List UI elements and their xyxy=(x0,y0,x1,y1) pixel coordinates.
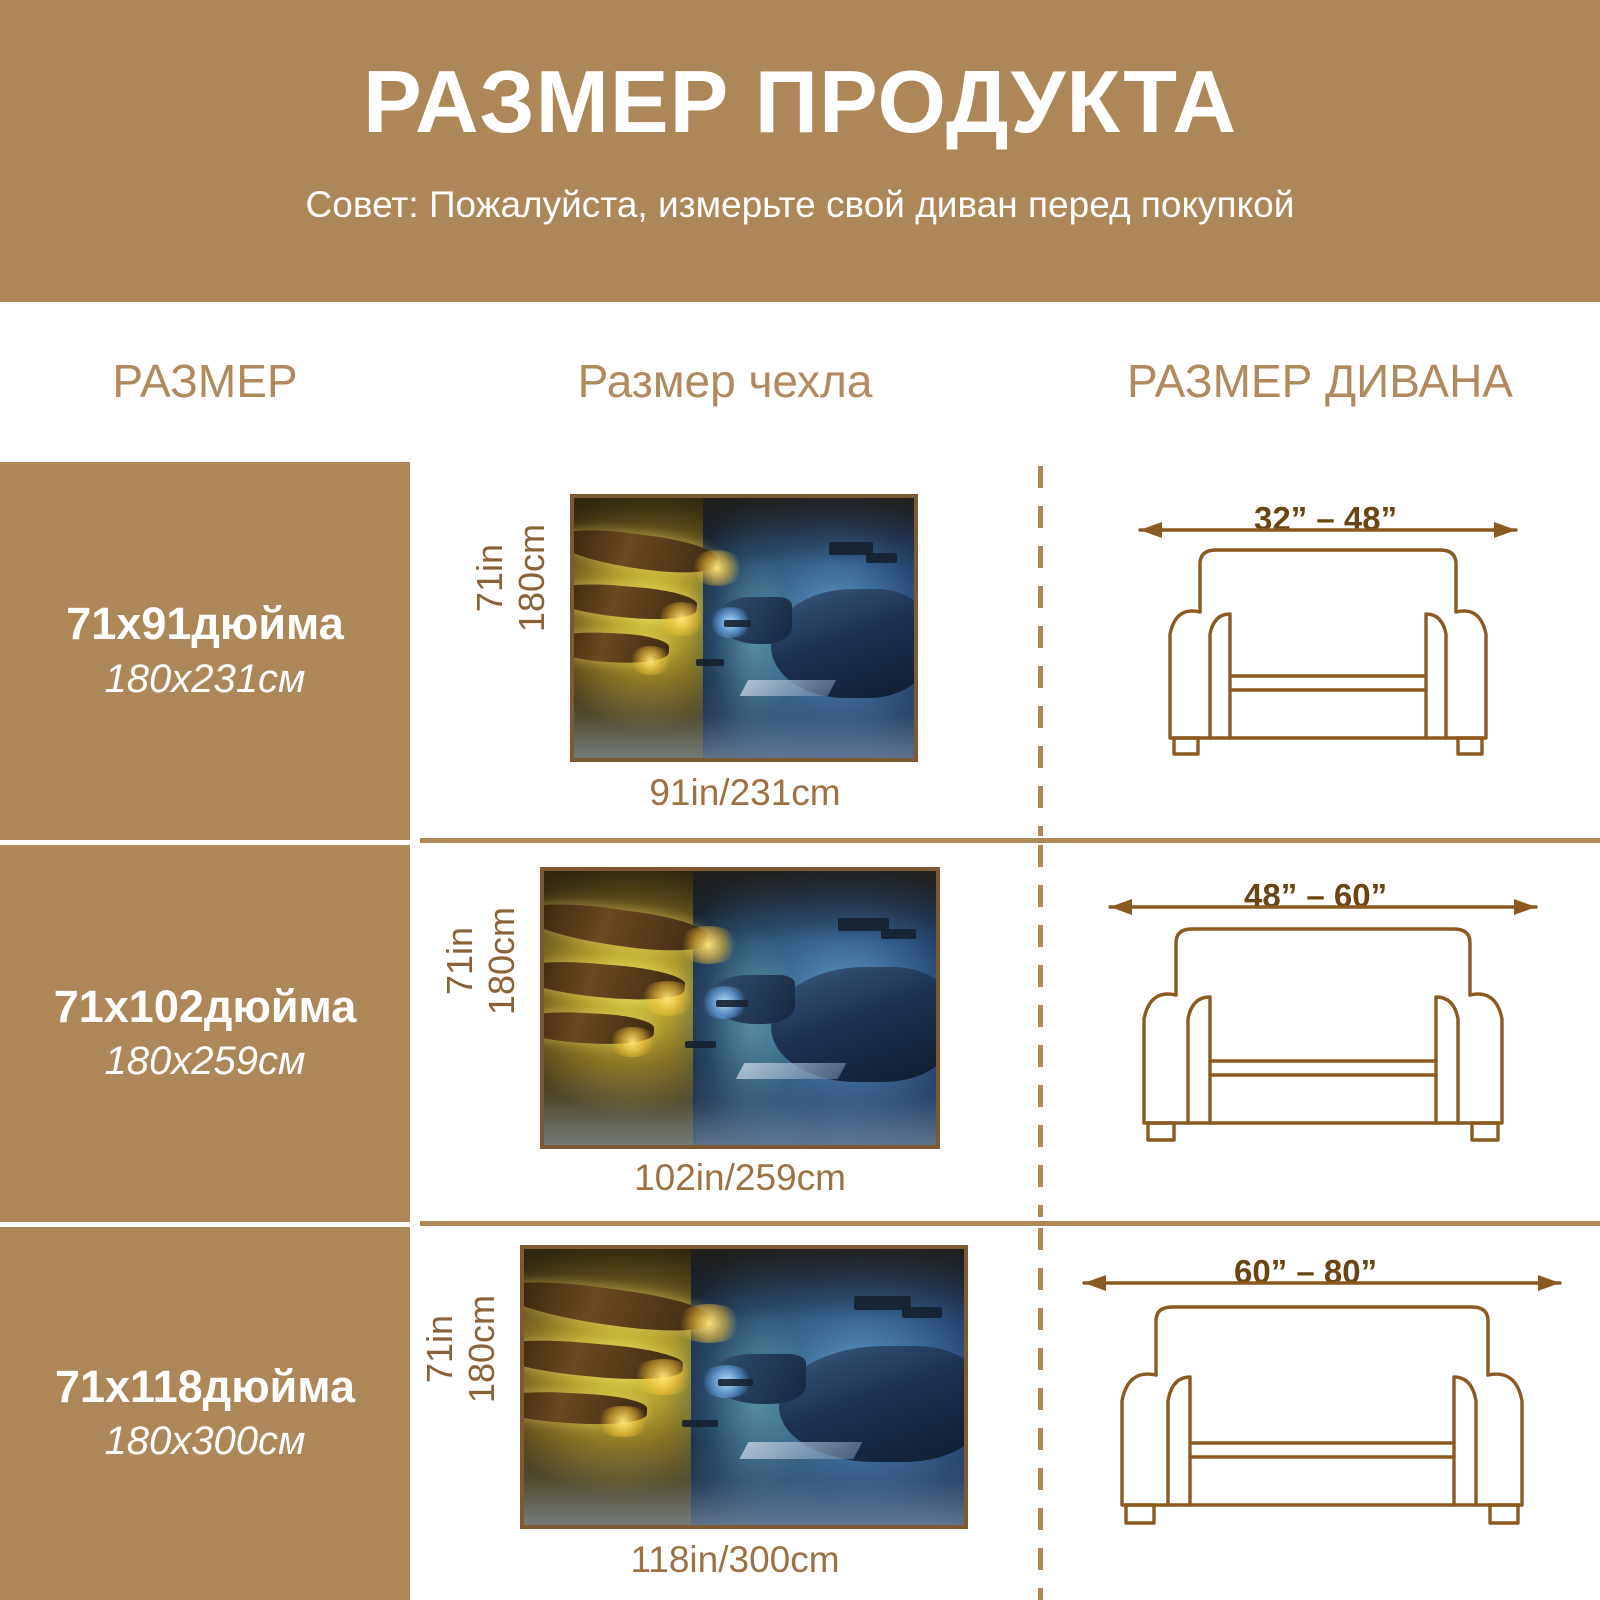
cover-width-label: 102in/259cm xyxy=(510,1157,970,1199)
cover-width-label: 91in/231cm xyxy=(520,772,970,814)
size-cm-label: 180x300см xyxy=(105,1417,306,1465)
cover-height-labels: 71in 180cm xyxy=(472,524,550,632)
cover-width-label: 118in/300cm xyxy=(500,1539,970,1581)
row-divider xyxy=(420,838,1600,843)
sofa-cell: 48” – 60” xyxy=(1040,845,1600,1222)
sofa-illustration xyxy=(1128,502,1528,792)
size-inches-label: 71x91дюйма xyxy=(66,599,344,649)
column-header-size: РАЗМЕР xyxy=(0,354,410,408)
sofa-illustration xyxy=(1098,879,1548,1179)
size-cell: 71x102дюйма 180x259см xyxy=(0,845,410,1222)
cover-cell: 71in 180cm xyxy=(410,1227,1040,1600)
cover-cell: 71in 180cm xyxy=(410,845,1040,1222)
cover-height-labels: 71in 180cm xyxy=(422,1295,500,1403)
cover-height-cm: 180cm xyxy=(514,524,550,632)
table-row: 71x118дюйма 180x300см 71in 180cm xyxy=(0,1227,1600,1600)
column-dashed-divider xyxy=(1038,1228,1043,1600)
cover-height-inches: 71in xyxy=(472,544,508,612)
size-inches-label: 71x102дюйма xyxy=(54,982,357,1032)
product-artwork xyxy=(540,867,940,1149)
cover-height-inches: 71in xyxy=(442,927,478,995)
product-artwork xyxy=(570,494,918,762)
column-header-cover: Размер чехла xyxy=(410,354,1040,408)
cover-height-labels: 71in 180cm xyxy=(442,907,520,1015)
cover-cell: 71in 180cm xyxy=(410,462,1040,840)
column-header-row: РАЗМЕР Размер чехла РАЗМЕР ДИВАНА xyxy=(0,302,1600,462)
cover-height-inches: 71in xyxy=(422,1315,458,1383)
page-title: РАЗМЕР ПРОДУКТА xyxy=(363,58,1237,146)
table-row: 71x102дюйма 180x259см 71in 180cm xyxy=(0,845,1600,1222)
cover-height-cm: 180cm xyxy=(484,907,520,1015)
page-header: РАЗМЕР ПРОДУКТА Совет: Пожалуйста, измер… xyxy=(0,0,1600,302)
size-inches-label: 71x118дюйма xyxy=(55,1362,355,1412)
column-header-sofa: РАЗМЕР ДИВАНА xyxy=(1040,354,1600,408)
product-artwork xyxy=(520,1245,968,1529)
sofa-illustration xyxy=(1072,1255,1572,1560)
size-cell: 71x91дюйма 180x231см xyxy=(0,462,410,840)
column-dashed-divider xyxy=(1038,466,1043,836)
row-divider xyxy=(420,1221,1600,1226)
size-chart-page: РАЗМЕР ПРОДУКТА Совет: Пожалуйста, измер… xyxy=(0,0,1600,1600)
size-cm-label: 180x231см xyxy=(105,655,306,703)
size-cell: 71x118дюйма 180x300см xyxy=(0,1227,410,1600)
table-row: 71x91дюйма 180x231см 71in 180cm xyxy=(0,462,1600,840)
sofa-cell: 60” – 80” xyxy=(1040,1227,1600,1600)
cover-height-cm: 180cm xyxy=(464,1295,500,1403)
size-cm-label: 180x259см xyxy=(105,1037,306,1085)
page-subtitle: Совет: Пожалуйста, измерьте свой диван п… xyxy=(306,184,1295,226)
sofa-cell: 32” – 48” xyxy=(1040,462,1600,840)
column-dashed-divider xyxy=(1038,845,1043,1217)
